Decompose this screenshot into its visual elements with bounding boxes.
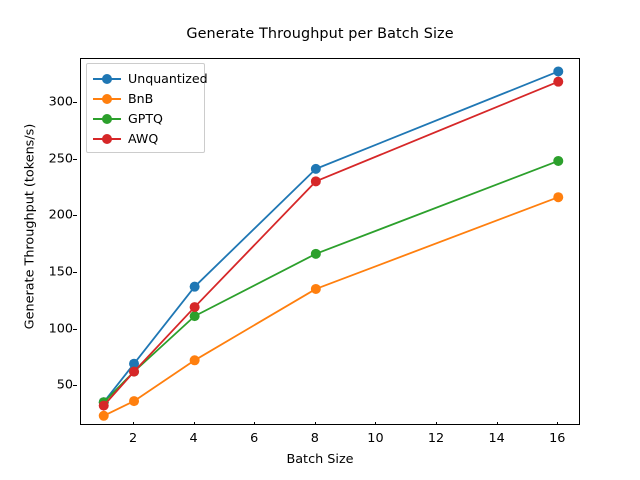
legend-item-bnb[interactable]: BnB [87,89,204,109]
x-tick-mark [133,422,134,426]
x-tick-mark [254,422,255,426]
series-gptq [99,156,564,407]
data-point [129,367,139,377]
x-tick-mark [557,422,558,426]
x-tick-label: 10 [367,431,383,446]
chart-legend: UnquantizedBnBGPTQAWQ [86,63,205,153]
x-tick-mark [497,422,498,426]
x-tick-label: 6 [250,431,258,446]
data-point [99,401,109,411]
data-point [190,311,200,321]
data-point [190,282,200,292]
y-tick-mark [73,329,77,330]
x-tick-label: 2 [129,431,137,446]
legend-marker-icon [93,93,121,105]
y-tick-label: 200 [49,208,73,223]
legend-item-awq[interactable]: AWQ [87,129,204,149]
x-tick-mark [315,422,316,426]
y-axis-ticks: 50100150200250300 [30,58,73,425]
data-point [190,302,200,312]
y-tick-label: 100 [49,321,73,336]
x-tick-mark [375,422,376,426]
data-point [99,411,109,421]
data-point [190,355,200,365]
series-line [104,161,559,402]
x-tick-label: 12 [428,431,444,446]
y-tick-label: 50 [57,378,73,393]
data-point [311,284,321,294]
x-tick-mark [436,422,437,426]
y-tick-label: 250 [49,151,73,166]
y-tick-mark [73,272,77,273]
x-tick-label: 4 [190,431,198,446]
data-point [129,396,139,406]
legend-marker-icon [93,113,121,125]
x-tick-label: 16 [549,431,565,446]
y-tick-label: 300 [49,95,73,110]
y-tick-label: 150 [49,265,73,280]
x-axis-ticks: 246810121416 [80,425,580,449]
data-point [311,164,321,174]
legend-label: GPTQ [128,113,163,126]
series-line [104,197,559,416]
legend-item-unquantized[interactable]: Unquantized [87,69,204,89]
x-tick-label: 14 [489,431,505,446]
x-tick-mark [194,422,195,426]
legend-marker-icon [93,133,121,145]
data-point [553,156,563,166]
data-point [311,176,321,186]
y-tick-mark [73,385,77,386]
data-point [553,77,563,87]
series-bnb [99,192,564,421]
legend-label: Unquantized [128,73,208,86]
y-tick-mark [73,215,77,216]
legend-label: BnB [128,93,153,106]
data-point [311,249,321,259]
chart-figure: Generate Throughput per Batch Size Gener… [0,0,640,480]
legend-marker-icon [93,73,121,85]
x-axis-label: Batch Size [0,452,640,467]
y-tick-mark [73,159,77,160]
y-axis-label-wrapper: Generate Throughput (tokens/s) [0,0,22,480]
x-tick-label: 8 [311,431,319,446]
y-tick-mark [73,102,77,103]
chart-title: Generate Throughput per Batch Size [0,26,640,42]
legend-item-gptq[interactable]: GPTQ [87,109,204,129]
data-point [553,66,563,76]
legend-label: AWQ [128,133,158,146]
data-point [553,192,563,202]
